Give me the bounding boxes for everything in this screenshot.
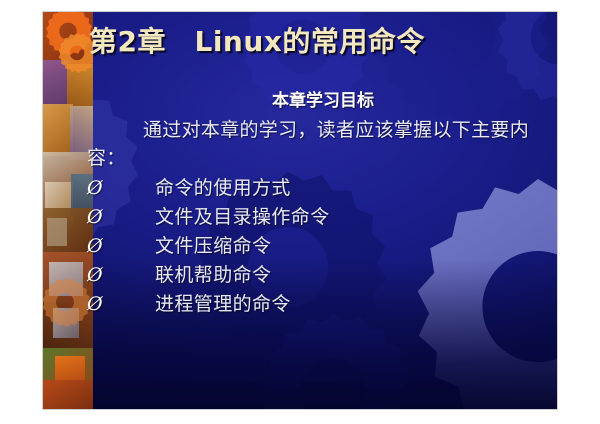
strip-tile [49,262,83,296]
strip-tile [53,308,79,338]
bullet-marker-icon: Ø [87,290,155,319]
list-item-label: 文件及目录操作命令 [155,203,330,232]
bullet-marker-icon: Ø [87,203,155,232]
list-item-label: 进程管理的命令 [155,290,291,319]
slide-body: 通过对本章的学习，读者应该掌握以下主要内容： Ø 命令的使用方式 Ø 文件及目录… [87,116,557,319]
strip-tile [43,380,93,409]
intro-paragraph: 通过对本章的学习，读者应该掌握以下主要内容： [87,116,557,172]
list-item: Ø 命令的使用方式 [87,174,557,203]
page-title: 第2章 Linux的常用命令 [89,20,557,64]
list-item: Ø 文件压缩命令 [87,232,557,261]
slide-title-block: 第2章 Linux的常用命令 [89,20,557,64]
list-item: Ø 进程管理的命令 [87,290,557,319]
list-item-label: 联机帮助命令 [155,261,271,290]
list-item: Ø 联机帮助命令 [87,261,557,290]
list-item-label: 文件压缩命令 [155,232,271,261]
bullet-marker-icon: Ø [87,174,155,203]
bullet-marker-icon: Ø [87,261,155,290]
strip-tile [47,218,67,246]
strip-gear-icon [51,30,93,86]
list-item: Ø 文件及目录操作命令 [87,203,557,232]
bullet-marker-icon: Ø [87,232,155,261]
slide-frame: 第2章 Linux的常用命令 本章学习目标 通过对本章的学习，读者应该掌握以下主… [43,12,557,409]
strip-tile [43,104,73,156]
list-item-label: 命令的使用方式 [155,174,291,203]
objectives-list: Ø 命令的使用方式 Ø 文件及目录操作命令 Ø 文件压缩命令 Ø 联机帮助命令 … [87,174,557,319]
left-decorative-strip [43,12,93,409]
slide-subtitle: 本章学习目标 [89,86,557,111]
